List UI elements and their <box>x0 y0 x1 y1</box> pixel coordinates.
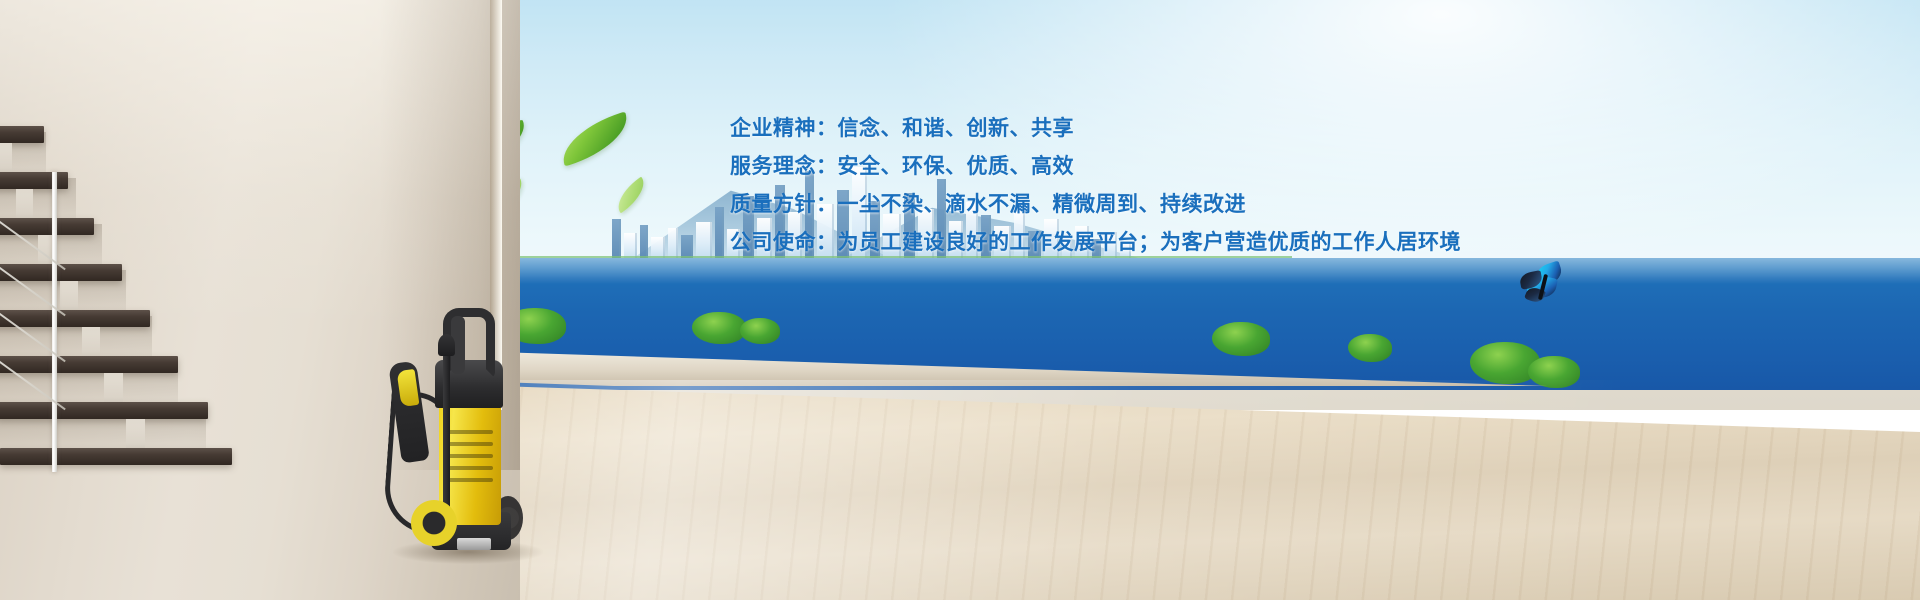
stair-tread <box>0 310 150 327</box>
mission-line-quality-policy: 质量方针：一尘不染、滴水不漏、精微周到、持续改进 <box>730 194 1490 215</box>
spray-nozzle <box>438 334 455 356</box>
mission-line-service-concept: 服务理念：安全、环保、优质、高效 <box>730 156 1490 177</box>
hero-banner: 企业精神：信念、和谐、创新、共享 服务理念：安全、环保、优质、高效 质量方针：一… <box>0 0 1920 600</box>
mission-line-corporate-spirit: 企业精神：信念、和谐、创新、共享 <box>730 118 1490 139</box>
mission-line-company-mission: 公司使命：为员工建设良好的工作发展平台；为客户营造优质的工作人居环境 <box>730 232 1490 253</box>
staircase <box>0 120 230 480</box>
building <box>668 228 678 259</box>
pressure-washer <box>385 300 545 570</box>
stair-tread <box>0 448 232 465</box>
bush-shape <box>1212 322 1270 356</box>
stair-tread <box>0 126 44 143</box>
bush-shape <box>692 312 746 344</box>
building <box>696 222 712 259</box>
railing-post <box>52 172 57 472</box>
spray-lance <box>443 342 450 522</box>
stair-tread <box>0 172 68 189</box>
building <box>640 225 648 259</box>
bush-shape <box>1528 356 1580 388</box>
bush-shape <box>740 318 780 344</box>
vent-slots <box>445 430 497 500</box>
base-plate <box>457 538 491 550</box>
stair-tread <box>0 356 178 373</box>
wheel <box>411 500 457 546</box>
building <box>715 207 724 259</box>
bush-shape <box>1348 334 1392 362</box>
building <box>612 219 621 259</box>
mission-statement-block: 企业精神：信念、和谐、创新、共享 服务理念：安全、环保、优质、高效 质量方针：一… <box>730 118 1490 270</box>
butterfly-icon <box>1520 262 1566 306</box>
stair-tread <box>0 402 208 419</box>
